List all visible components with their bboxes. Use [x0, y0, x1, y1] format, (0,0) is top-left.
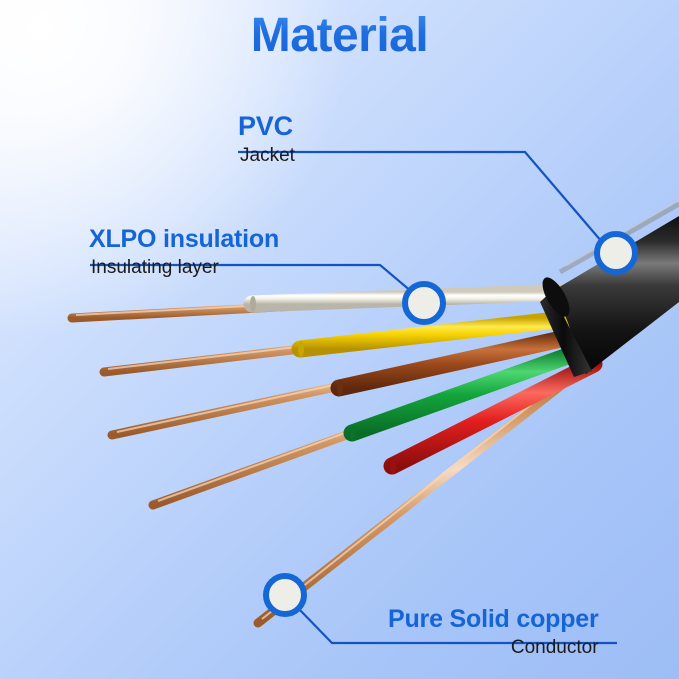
callout-label-pvc: PVC Jacket — [238, 112, 295, 167]
callout-subtitle-copper: Conductor — [388, 638, 599, 659]
callout-marker-xlpo[interactable] — [405, 284, 443, 322]
callout-subtitle-pvc: Jacket — [240, 146, 295, 167]
callout-label-copper: Pure Solid copper Conductor — [388, 606, 599, 659]
callout-title-copper: Pure Solid copper — [388, 606, 599, 632]
callout-subtitle-xlpo: Insulating layer — [91, 258, 279, 279]
callout-title-pvc: PVC — [238, 112, 295, 140]
callout-marker-pvc[interactable] — [597, 234, 635, 272]
callout-label-xlpo: XLPO insulation Insulating layer — [89, 226, 279, 279]
white-wire — [72, 290, 568, 318]
material-diagram-stage: Material PVC Jacket XLPO insulation Insu… — [0, 0, 679, 679]
cable-illustration — [0, 0, 679, 679]
callout-title-xlpo: XLPO insulation — [89, 226, 279, 252]
green-wire — [153, 348, 590, 505]
page-title: Material — [0, 8, 679, 63]
callout-marker-copper[interactable] — [266, 576, 304, 614]
